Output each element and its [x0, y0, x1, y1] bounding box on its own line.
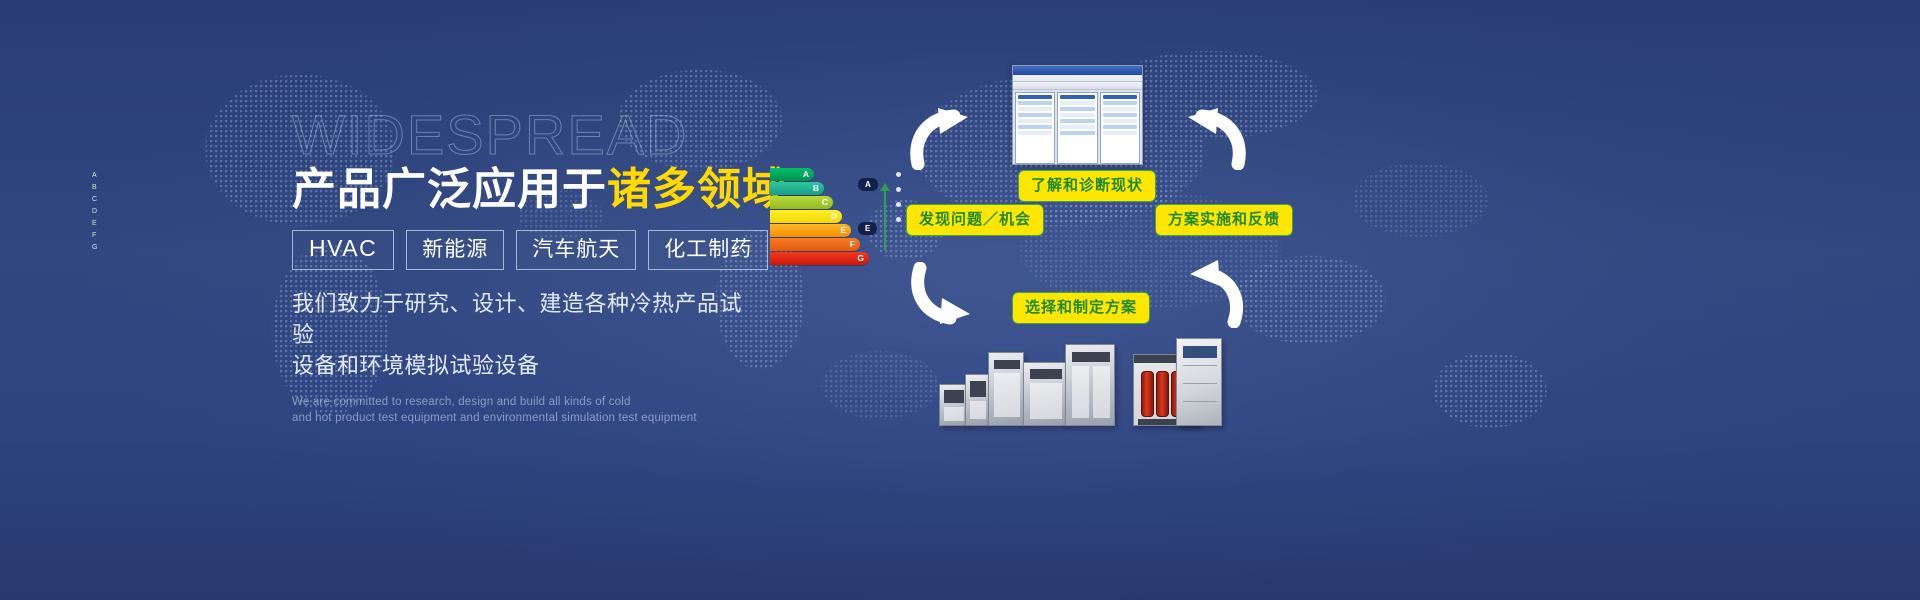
- dot-marker: [896, 172, 901, 177]
- window-panel-right: [1100, 92, 1140, 164]
- energy-improvement-arrow: [884, 190, 886, 250]
- product-chamber-wide: [1023, 362, 1067, 426]
- tag-automotive-aerospace[interactable]: 汽车航天: [516, 230, 636, 270]
- cycle-step-discover[interactable]: 发现问题／机会: [906, 204, 1044, 236]
- cycle-step-diagnose[interactable]: 了解和诊断现状: [1018, 170, 1156, 202]
- panel-row: [1018, 113, 1052, 117]
- window-toolbar: [1013, 82, 1142, 90]
- arrow-down-right-icon: [1182, 260, 1248, 328]
- panel-row: [1018, 107, 1052, 111]
- panel-row: [1060, 113, 1094, 117]
- panel-row: [1018, 119, 1052, 123]
- panel-row: [1103, 101, 1137, 105]
- tag-chemical-pharma[interactable]: 化工制药: [648, 230, 768, 270]
- scale-tick-g: G: [92, 242, 97, 254]
- energy-pill-e: E: [858, 222, 877, 235]
- panel-row: [1060, 95, 1094, 99]
- tag-new-energy[interactable]: 新能源: [406, 230, 504, 270]
- energy-bar-grade: D: [831, 211, 837, 221]
- software-window-thumbnail: [1012, 65, 1143, 165]
- window-panel-mid: [1057, 92, 1097, 164]
- dot-marker: [896, 202, 901, 207]
- window-content: [1013, 90, 1142, 165]
- product-chamber-double: [1065, 344, 1115, 426]
- panel-row: [1018, 101, 1052, 105]
- scale-tick-c: C: [92, 194, 97, 206]
- description-line-2: 设备和环境模拟试验设备: [292, 350, 762, 381]
- panel-row: [1103, 95, 1137, 99]
- product-tall-chamber: [988, 352, 1024, 426]
- energy-pill-a: A: [858, 178, 878, 191]
- energy-bar-c: C: [770, 196, 833, 209]
- page-title: 产品广泛应用于诸多领域: [292, 162, 762, 218]
- scale-tick-a: A: [92, 170, 97, 182]
- panel-row: [1018, 131, 1052, 135]
- panel-row: [1103, 125, 1137, 129]
- panel-row: [1018, 95, 1052, 99]
- arrow-up-left-icon: [908, 108, 976, 170]
- panel-row: [1103, 131, 1137, 135]
- industry-tag-list: HVAC 新能源 汽车航天 化工制药: [292, 230, 762, 270]
- scale-tick-b: B: [92, 182, 97, 194]
- hero-description: 我们致力于研究、设计、建造各种冷热产品试验 设备和环境模拟试验设备: [292, 288, 762, 381]
- cabinet-display-panel: [1183, 346, 1217, 358]
- panel-row: [1060, 119, 1094, 123]
- energy-bar-b: B: [770, 182, 824, 195]
- window-title-bar: [1013, 66, 1142, 75]
- scale-tick-d: D: [92, 206, 97, 218]
- panel-row: [1103, 113, 1137, 117]
- energy-bar-grade: C: [822, 197, 828, 207]
- panel-row: [1060, 101, 1094, 105]
- panel-row: [1060, 125, 1094, 129]
- headline-accent: 诸多领域: [607, 165, 787, 214]
- product-small-chamber-1: [939, 384, 967, 426]
- energy-bar-grade: B: [813, 183, 819, 193]
- energy-bar-grade: A: [803, 169, 809, 179]
- window-panel-left: [1015, 92, 1055, 164]
- product-small-chamber-2: [965, 374, 989, 426]
- energy-bar-f: F: [770, 238, 860, 251]
- scale-tick-e: E: [92, 218, 97, 230]
- headline-primary: 产品广泛应用于: [292, 165, 607, 214]
- arrow-up-right-icon: [1180, 108, 1248, 170]
- energy-bar-d: D: [770, 210, 842, 223]
- dot-marker: [896, 217, 901, 222]
- energy-bar-grade: E: [840, 225, 846, 235]
- cycle-step-plan[interactable]: 选择和制定方案: [1012, 292, 1150, 324]
- arrow-down-left-icon: [908, 262, 978, 328]
- hero-description-english: We are committed to research, design and…: [292, 394, 762, 426]
- energy-dot-markers: [896, 172, 901, 232]
- tag-hvac[interactable]: HVAC: [292, 230, 394, 270]
- panel-row: [1060, 131, 1094, 135]
- cycle-step-feedback[interactable]: 方案实施和反馈: [1155, 204, 1293, 236]
- energy-bar-grade: F: [850, 239, 855, 249]
- panel-row: [1018, 125, 1052, 129]
- scale-tick-f: F: [92, 230, 96, 242]
- dot-marker: [896, 187, 901, 192]
- description-en-line-2: and hot product test equipment and envir…: [292, 410, 762, 426]
- window-menu-bar: [1013, 75, 1142, 82]
- panel-row: [1060, 107, 1094, 111]
- hero-text-block: WIDESPREAD 产品广泛应用于诸多领域 HVAC 新能源 汽车航天 化工制…: [292, 104, 762, 426]
- energy-bar-grade: G: [857, 253, 864, 263]
- description-line-1: 我们致力于研究、设计、建造各种冷热产品试验: [292, 291, 742, 347]
- description-en-line-1: We are committed to research, design and…: [292, 394, 762, 410]
- energy-bar-a: A: [770, 168, 814, 181]
- panel-row: [1103, 119, 1137, 123]
- product-control-cabinet: [1176, 338, 1222, 426]
- energy-bar-e: E: [770, 224, 851, 237]
- energy-bar-g: G: [770, 252, 869, 265]
- ghost-outline-word: WIDESPREAD: [292, 104, 762, 166]
- panel-row: [1103, 107, 1137, 111]
- hero-banner: WIDESPREAD 产品广泛应用于诸多领域 HVAC 新能源 汽车航天 化工制…: [0, 0, 1920, 600]
